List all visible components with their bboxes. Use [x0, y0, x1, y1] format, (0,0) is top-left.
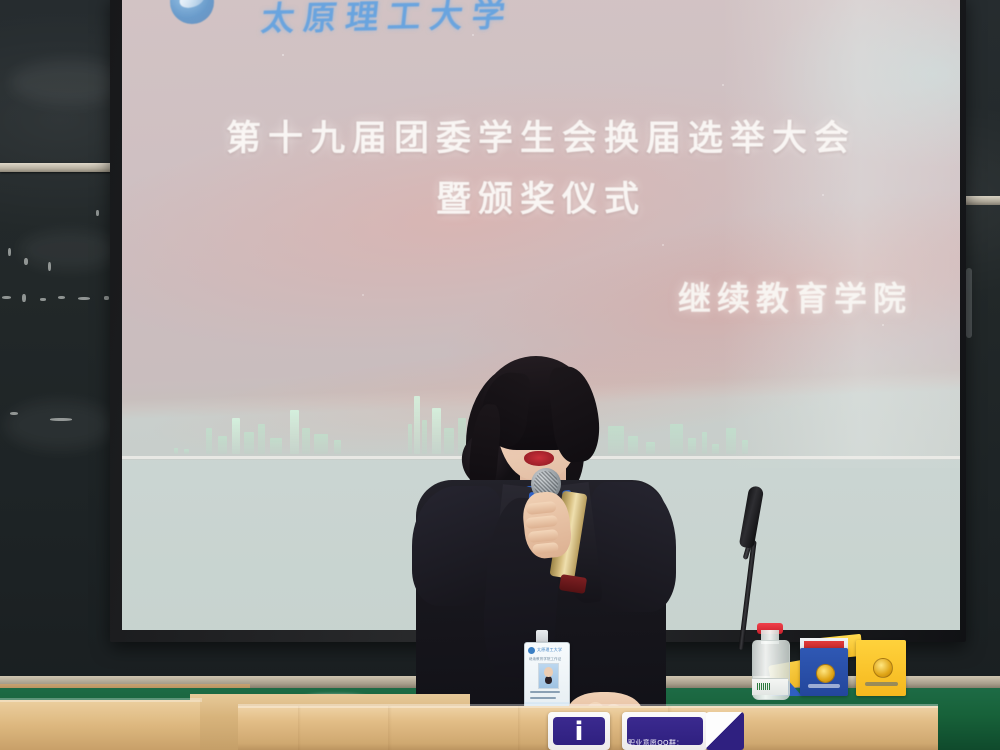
slide-lower-band	[122, 460, 960, 630]
chalk-mark	[50, 418, 72, 421]
chalk-mark	[58, 296, 65, 299]
university-name-calligraphy: 太原理工大学	[259, 0, 517, 40]
slide-band-edge	[122, 456, 960, 459]
chalk-smudge	[5, 400, 115, 450]
bottle-label	[752, 678, 788, 695]
slide-speck	[662, 244, 664, 246]
chalk-mark	[10, 412, 18, 415]
sign-corner	[706, 712, 744, 750]
chalk-mark	[8, 248, 11, 256]
chalk-mark	[24, 258, 28, 265]
box-text	[808, 684, 840, 688]
podium-edge-highlight	[0, 698, 202, 702]
box-seal-icon	[816, 664, 835, 683]
slide-title-line1: 第十九届团委学生会换届选举大会	[122, 110, 960, 161]
box-seal-icon	[873, 658, 893, 678]
chalk-mark	[96, 210, 99, 216]
slide-department: 继续教育学院	[122, 272, 912, 320]
university-emblem-icon	[170, 0, 214, 24]
chalk-mark	[104, 296, 109, 300]
photo-scene: 太原理工大学 第十九届团委学生会换届选举大会 暨颁奖仪式 继续教育学院	[0, 0, 1000, 750]
slide-title: 第十九届团委学生会换届选举大会 暨颁奖仪式	[122, 110, 960, 222]
slide-speck	[882, 324, 884, 326]
red-package-strip	[804, 641, 844, 648]
qq-group-sign: 职业意愿QQ群：	[622, 712, 708, 750]
podium-edge-highlight	[238, 704, 938, 708]
chalk-mark	[2, 296, 11, 299]
chalk-mark	[22, 294, 26, 302]
chalk-rail-left	[0, 163, 126, 172]
city-skyline-icon	[122, 324, 960, 454]
yellow-gift-box	[856, 640, 906, 696]
slide-title-line2: 暨颁奖仪式	[122, 171, 960, 222]
board-scuff	[966, 268, 972, 338]
chalk-mark	[48, 262, 51, 271]
blue-gift-box	[800, 648, 848, 696]
slide-speck	[722, 84, 724, 86]
chalk-mark	[40, 298, 46, 301]
chalk-smudge	[20, 230, 120, 270]
box-text	[865, 682, 898, 686]
slide-speck	[282, 54, 284, 56]
chalk-mark	[78, 297, 90, 300]
podium-left-panel	[0, 700, 200, 750]
qq-group-text: 职业意愿QQ群：	[628, 738, 683, 748]
info-icon: i	[575, 719, 584, 745]
information-sign: i	[548, 712, 610, 750]
projection-screen: 太原理工大学 第十九届团委学生会换届选举大会 暨颁奖仪式 继续教育学院	[122, 0, 960, 630]
